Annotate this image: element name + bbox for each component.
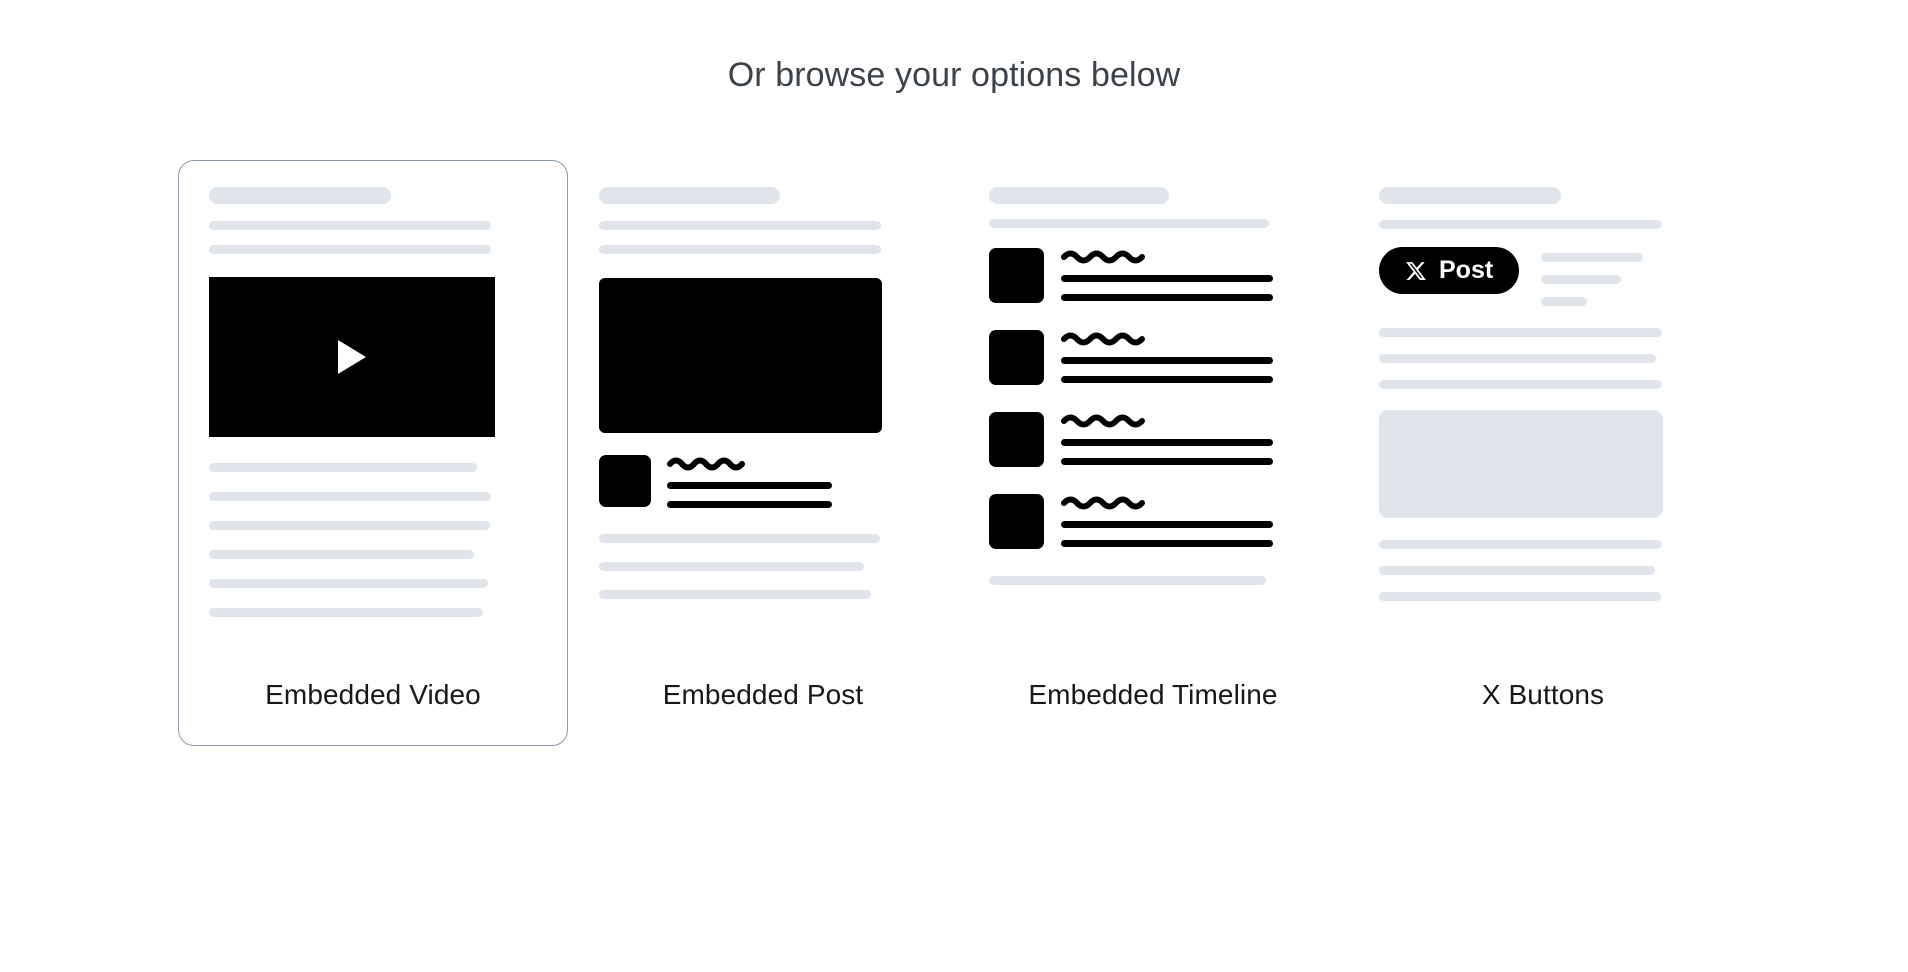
timeline-item bbox=[989, 412, 1317, 467]
skeleton-line bbox=[1379, 380, 1662, 389]
option-card-label: Embedded Timeline bbox=[989, 679, 1317, 711]
text-line bbox=[1061, 376, 1273, 383]
skeleton-title-bar bbox=[209, 187, 391, 204]
text-line bbox=[1061, 275, 1273, 282]
skeleton-line bbox=[1379, 592, 1661, 601]
avatar bbox=[599, 455, 651, 507]
skeleton-line bbox=[209, 221, 491, 230]
option-card-list: Embedded Video bbox=[178, 160, 1738, 746]
timeline-item-text bbox=[1061, 248, 1273, 301]
timeline-item bbox=[989, 248, 1317, 303]
x-post-button[interactable]: Post bbox=[1379, 247, 1519, 294]
squiggle-icon bbox=[1061, 250, 1167, 266]
skeleton-line bbox=[209, 550, 474, 559]
skeleton-line bbox=[1379, 354, 1656, 363]
timeline-item-text bbox=[1061, 330, 1273, 383]
avatar bbox=[989, 412, 1044, 467]
x-post-button-side-lines bbox=[1541, 247, 1643, 306]
placeholder-block bbox=[1379, 410, 1663, 518]
page-heading: Or browse your options below bbox=[0, 56, 1908, 95]
skeleton-line bbox=[989, 576, 1266, 585]
skeleton-line bbox=[1541, 297, 1587, 306]
skeleton-line bbox=[1541, 275, 1621, 284]
skeleton-title-bar bbox=[1379, 187, 1561, 204]
squiggle-icon bbox=[1061, 496, 1167, 512]
embedded-video-preview bbox=[209, 187, 537, 657]
embedded-post-preview bbox=[599, 187, 927, 657]
play-icon bbox=[338, 340, 366, 374]
x-post-button-label: Post bbox=[1439, 258, 1493, 283]
skeleton-line bbox=[1379, 220, 1662, 229]
skeleton-line bbox=[209, 608, 483, 617]
text-line bbox=[1061, 357, 1273, 364]
timeline-item bbox=[989, 330, 1317, 385]
squiggle-icon bbox=[1061, 332, 1167, 348]
post-image-placeholder bbox=[599, 278, 882, 433]
avatar bbox=[989, 494, 1044, 549]
option-card-embedded-post[interactable]: Embedded Post bbox=[568, 160, 958, 746]
skeleton-line bbox=[599, 221, 881, 230]
text-line bbox=[1061, 294, 1273, 301]
text-line bbox=[1061, 458, 1273, 465]
skeleton-line bbox=[599, 534, 880, 543]
post-author-row bbox=[599, 455, 927, 508]
skeleton-title-bar bbox=[989, 187, 1169, 204]
squiggle-icon bbox=[667, 457, 765, 473]
timeline-item bbox=[989, 494, 1317, 549]
timeline-item-text bbox=[1061, 494, 1273, 547]
option-card-label: X Buttons bbox=[1379, 679, 1707, 711]
skeleton-line bbox=[599, 562, 864, 571]
option-card-label: Embedded Post bbox=[599, 679, 927, 711]
skeleton-line bbox=[209, 245, 491, 254]
option-card-x-buttons[interactable]: Post X Buttons bbox=[1348, 160, 1738, 746]
option-card-label: Embedded Video bbox=[209, 679, 537, 711]
text-line bbox=[1061, 521, 1273, 528]
skeleton-line bbox=[209, 492, 491, 501]
avatar bbox=[989, 248, 1044, 303]
skeleton-line bbox=[209, 463, 477, 472]
x-buttons-preview: Post bbox=[1379, 187, 1707, 657]
option-card-embedded-timeline[interactable]: Embedded Timeline bbox=[958, 160, 1348, 746]
x-post-button-row: Post bbox=[1379, 247, 1707, 306]
embedded-timeline-preview bbox=[989, 187, 1317, 657]
skeleton-line bbox=[1379, 540, 1662, 549]
avatar bbox=[989, 330, 1044, 385]
skeleton-line bbox=[209, 579, 488, 588]
text-line bbox=[1061, 540, 1273, 547]
skeleton-line bbox=[989, 219, 1269, 228]
skeleton-line bbox=[1379, 566, 1655, 575]
squiggle-icon bbox=[1061, 414, 1167, 430]
option-card-embedded-video[interactable]: Embedded Video bbox=[178, 160, 568, 746]
options-browser-page: Or browse your options below Embedded Vi… bbox=[0, 0, 1908, 972]
text-line bbox=[1061, 439, 1273, 446]
skeleton-line bbox=[1541, 253, 1643, 262]
video-thumbnail[interactable] bbox=[209, 277, 495, 437]
skeleton-line bbox=[1379, 328, 1662, 337]
post-author-text bbox=[667, 455, 832, 508]
skeleton-title-bar bbox=[599, 187, 780, 204]
skeleton-line bbox=[599, 245, 881, 254]
x-logo-icon bbox=[1405, 260, 1427, 282]
skeleton-line bbox=[599, 590, 871, 599]
timeline-item-text bbox=[1061, 412, 1273, 465]
text-line bbox=[667, 482, 832, 489]
skeleton-line bbox=[209, 521, 490, 530]
text-line bbox=[667, 501, 832, 508]
